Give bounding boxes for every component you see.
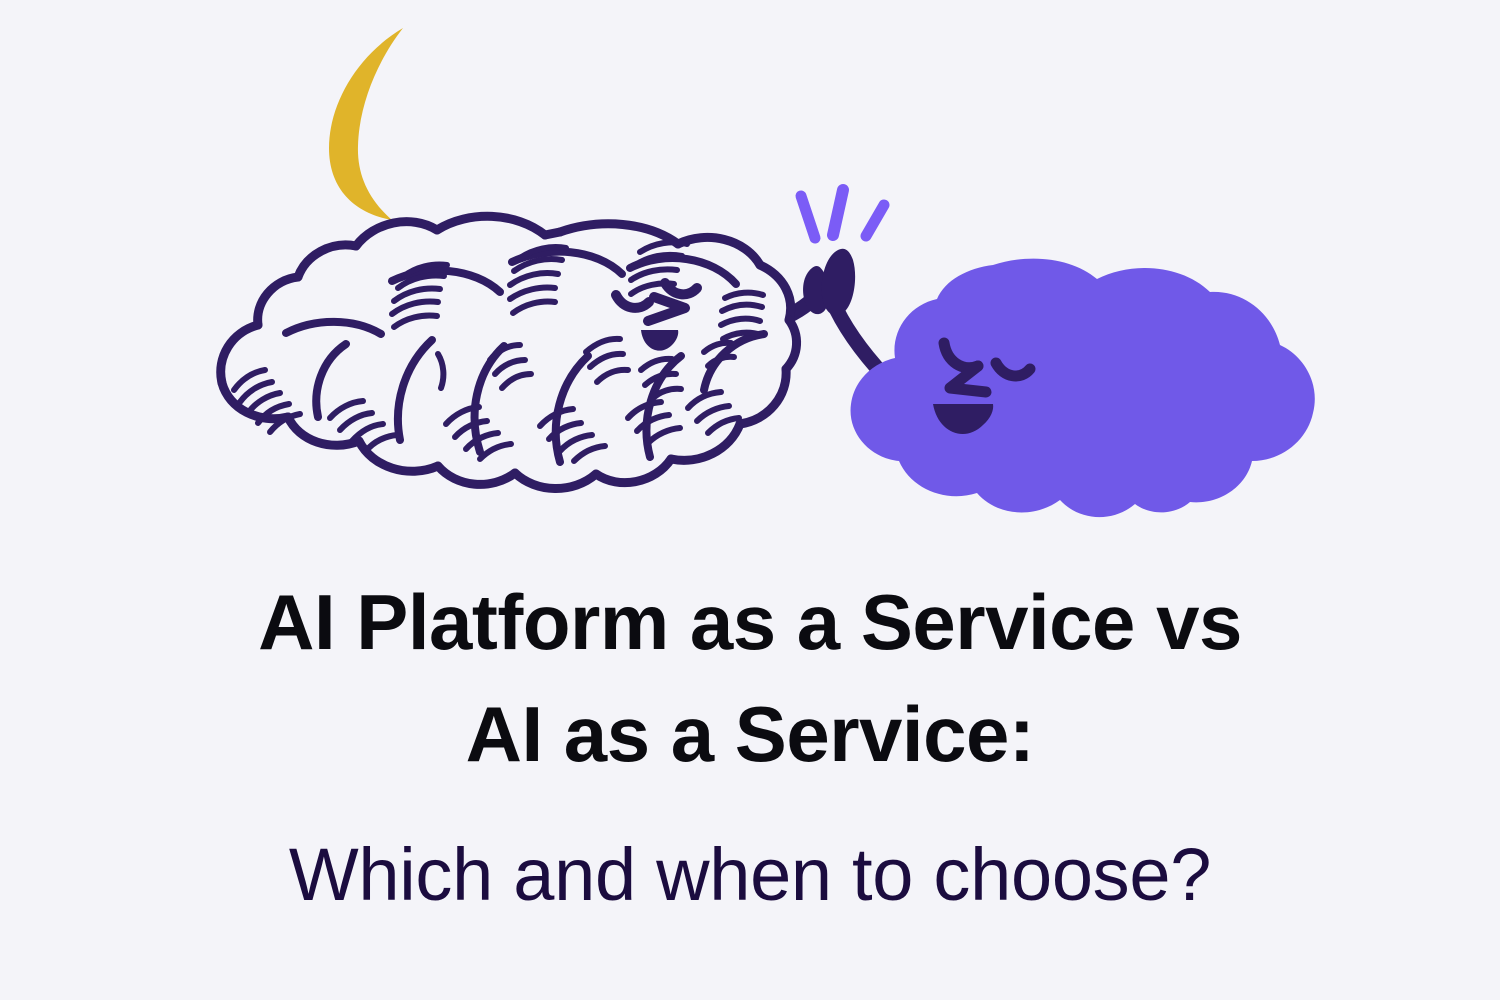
- page-title-line-2: AI as a Service:: [0, 678, 1500, 790]
- high-five-hands-icon: [803, 249, 855, 316]
- hero-illustration: [0, 0, 1500, 560]
- page-title: AI Platform as a Service vs AI as a Serv…: [0, 566, 1500, 790]
- sketch-outline-cloud: [221, 216, 797, 488]
- page-subtitle: Which and when to choose?: [0, 790, 1500, 918]
- sparkle-icon: [801, 190, 884, 238]
- hero-text-block: AI Platform as a Service vs AI as a Serv…: [0, 566, 1500, 918]
- page-title-line-1: AI Platform as a Service vs: [0, 566, 1500, 678]
- crescent-moon-icon: [329, 28, 403, 220]
- solid-purple-cloud: [851, 259, 1315, 517]
- hero-card: AI Platform as a Service vs AI as a Serv…: [0, 0, 1500, 1000]
